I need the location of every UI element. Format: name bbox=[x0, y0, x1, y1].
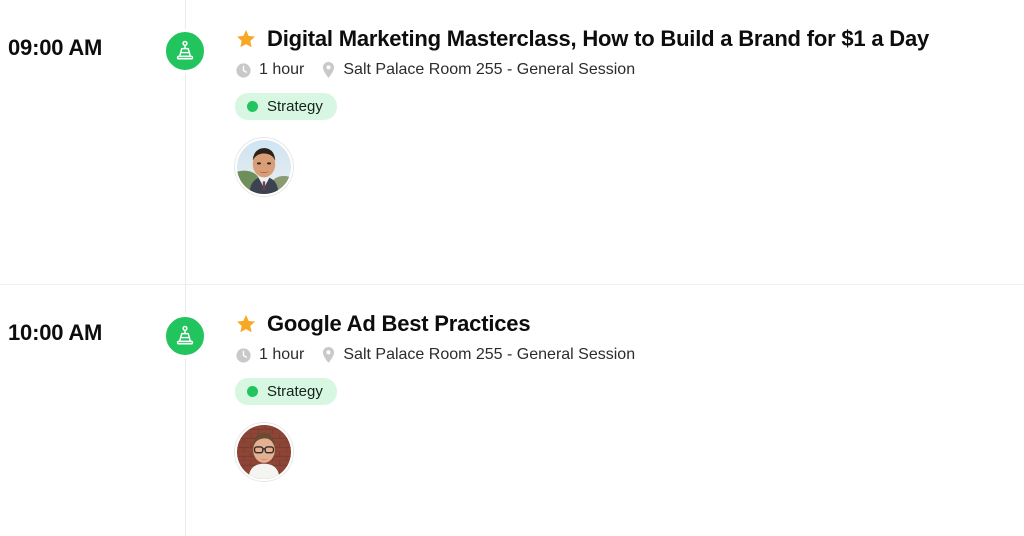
session-location-label: Salt Palace Room 255 - General Session bbox=[343, 346, 635, 364]
slot-content: Digital Marketing Masterclass, How to Bu… bbox=[207, 0, 1024, 196]
avatar[interactable] bbox=[235, 138, 293, 196]
location-pin-icon bbox=[321, 346, 336, 364]
session-location: Salt Palace Room 255 - General Session bbox=[321, 346, 635, 364]
agenda-slot[interactable]: 10:00 AM Google Ad Best Practices bbox=[0, 284, 1024, 536]
tag-label: Strategy bbox=[267, 383, 323, 400]
star-icon[interactable] bbox=[235, 28, 257, 50]
status-badge[interactable]: Strategy bbox=[235, 93, 337, 120]
session-tag-row: Strategy bbox=[235, 378, 1024, 405]
clock-icon bbox=[235, 347, 252, 364]
session-duration-label: 1 hour bbox=[259, 61, 304, 79]
agenda-schedule-list: 09:00 AM Digital Marketing Masterclass, … bbox=[0, 0, 1024, 536]
tag-dot-icon bbox=[247, 101, 258, 112]
agenda-slot[interactable]: 09:00 AM Digital Marketing Masterclass, … bbox=[0, 0, 1024, 284]
speakers-row bbox=[235, 423, 1024, 481]
location-pin-icon bbox=[321, 61, 336, 79]
slot-time-label: 09:00 AM bbox=[0, 0, 185, 61]
session-duration: 1 hour bbox=[235, 61, 304, 79]
session-meta-row: 1 hour Salt Palace Room 255 - General Se… bbox=[235, 61, 1024, 79]
session-title-row: Google Ad Best Practices bbox=[235, 311, 1024, 337]
session-duration-label: 1 hour bbox=[259, 346, 304, 364]
session-location-label: Salt Palace Room 255 - General Session bbox=[343, 61, 635, 79]
session-location: Salt Palace Room 255 - General Session bbox=[321, 61, 635, 79]
star-icon[interactable] bbox=[235, 313, 257, 335]
session-title[interactable]: Digital Marketing Masterclass, How to Bu… bbox=[267, 26, 929, 52]
speakers-row bbox=[235, 138, 1024, 196]
session-tag-row: Strategy bbox=[235, 93, 1024, 120]
status-badge[interactable]: Strategy bbox=[235, 378, 337, 405]
podium-speaker-icon bbox=[163, 29, 207, 73]
session-title-row: Digital Marketing Masterclass, How to Bu… bbox=[235, 26, 1024, 52]
avatar[interactable] bbox=[235, 423, 293, 481]
clock-icon bbox=[235, 62, 252, 79]
tag-label: Strategy bbox=[267, 98, 323, 115]
session-title[interactable]: Google Ad Best Practices bbox=[267, 311, 530, 337]
slot-content: Google Ad Best Practices 1 hour Salt Pal… bbox=[207, 285, 1024, 481]
session-meta-row: 1 hour Salt Palace Room 255 - General Se… bbox=[235, 346, 1024, 364]
session-duration: 1 hour bbox=[235, 346, 304, 364]
podium-speaker-icon bbox=[163, 314, 207, 358]
tag-dot-icon bbox=[247, 386, 258, 397]
slot-time-label: 10:00 AM bbox=[0, 285, 185, 346]
